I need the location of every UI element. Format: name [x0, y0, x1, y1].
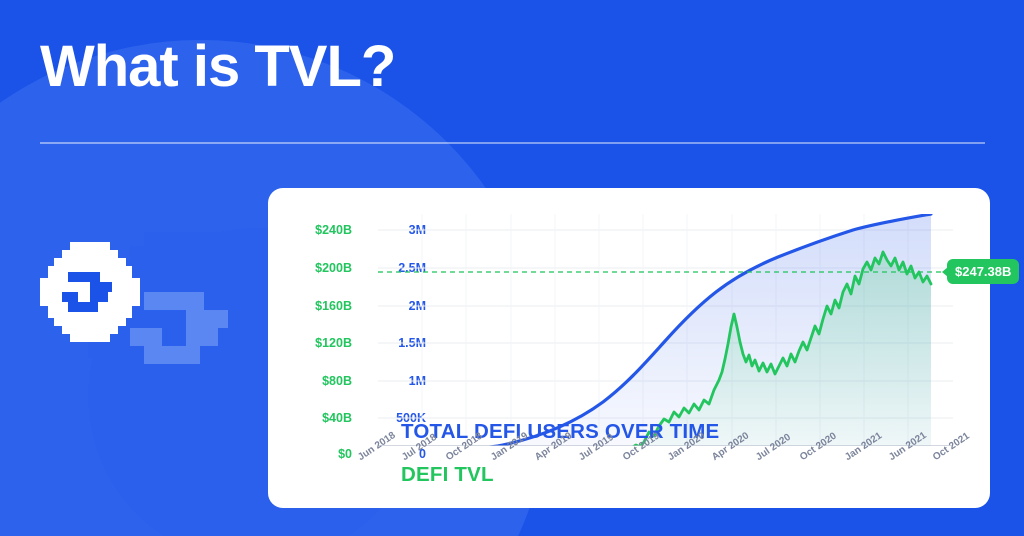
- y-tick-tvl: $120B: [315, 336, 352, 350]
- tvl-value-badge: $247.38B: [947, 259, 1019, 284]
- pixel-coin-small-icon: [40, 242, 140, 342]
- infographic-canvas: What is TVL?: [0, 0, 1024, 536]
- y-tick-tvl: $0: [338, 447, 352, 461]
- y-tick-tvl: $200B: [315, 261, 352, 275]
- x-tick: Jun 2018: [356, 430, 398, 463]
- chart-svg: [378, 214, 953, 446]
- chart-card: $240B $200B $160B $120B $80B $40B $0 3M …: [268, 188, 990, 508]
- y-tick-tvl: $160B: [315, 299, 352, 313]
- chart-plot-area: [378, 214, 953, 446]
- y-tick-tvl: $40B: [322, 411, 352, 425]
- y-tick-tvl: $240B: [315, 223, 352, 237]
- y-tick-tvl: $80B: [322, 374, 352, 388]
- header-divider: [40, 142, 985, 144]
- logo: [40, 232, 260, 447]
- page-title: What is TVL?: [40, 38, 395, 96]
- x-axis-labels: Jun 2018 Jul 2018 Oct 2018 Jan 2019 Apr …: [378, 446, 953, 502]
